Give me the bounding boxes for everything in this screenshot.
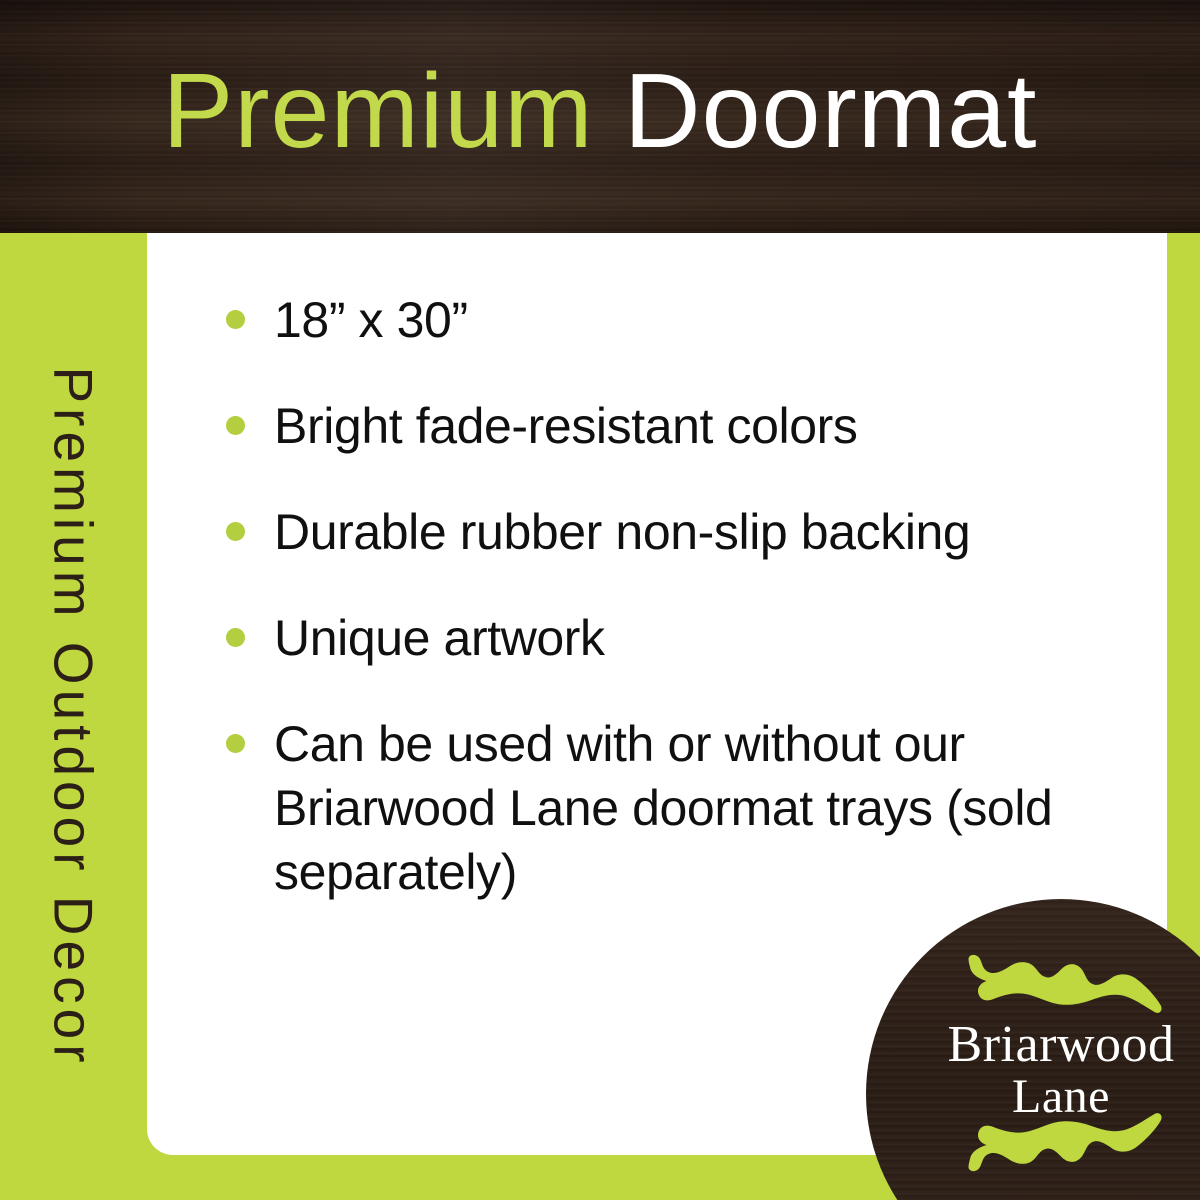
list-item: Unique artwork: [222, 606, 1102, 670]
list-item-label: Unique artwork: [274, 606, 1102, 670]
feature-list: 18” x 30” Bright fade-resistant colors D…: [222, 288, 1102, 904]
bullet-dot-icon: [226, 416, 245, 435]
list-item-label: Durable rubber non-slip backing: [274, 500, 1102, 564]
page-title-rest: Doormat: [624, 52, 1037, 170]
sidebar-green-band: [0, 233, 147, 1200]
leaf-top-icon: [959, 953, 1164, 1019]
brand-name-line1: Briarwood: [866, 1017, 1200, 1073]
list-item-label: 18” x 30”: [274, 288, 1102, 352]
product-infographic: Premium Doormat Premium Outdoor Decor 18…: [0, 0, 1200, 1200]
list-item: Durable rubber non-slip backing: [222, 500, 1102, 564]
list-item-label: Can be used with or without our Briarwoo…: [274, 712, 1102, 904]
leaf-bottom-icon: [959, 1107, 1164, 1173]
page-title-space: [594, 52, 624, 170]
bullet-dot-icon: [226, 310, 245, 329]
bullet-dot-icon: [226, 522, 245, 541]
page-title-highlight: Premium: [163, 52, 594, 170]
list-item: Can be used with or without our Briarwoo…: [222, 712, 1102, 904]
page-title: Premium Doormat: [0, 52, 1200, 170]
bullet-dot-icon: [226, 628, 245, 647]
list-item-label: Bright fade-resistant colors: [274, 394, 1102, 458]
bullet-dot-icon: [226, 734, 245, 753]
list-item: Bright fade-resistant colors: [222, 394, 1102, 458]
list-item: 18” x 30”: [222, 288, 1102, 352]
